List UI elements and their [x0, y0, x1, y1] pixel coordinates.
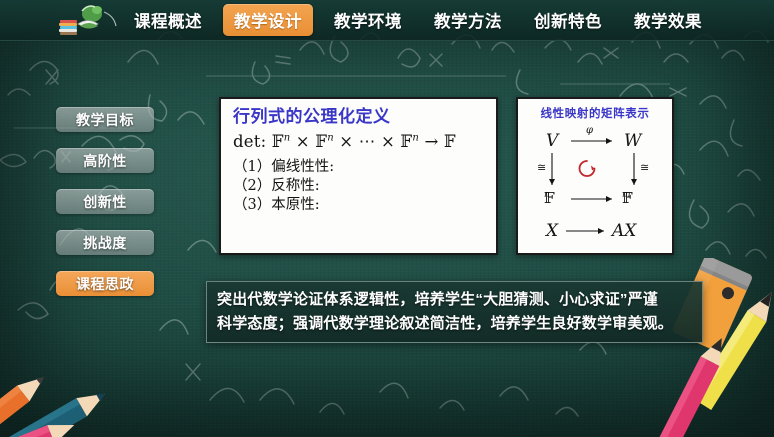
commutative-diagram-panel: 线性映射的矩阵表示: [516, 97, 674, 255]
sidebar-menu: 教学目标 高阶性 创新性 挑战度 课程思政: [56, 107, 154, 296]
books-plant-icon: [52, 2, 118, 40]
diagram-node-Fn: 𝔽n: [544, 189, 550, 207]
diagram-node-V: V: [546, 131, 558, 151]
sidebar-item-3[interactable]: 挑战度: [56, 230, 154, 255]
diagram-node-W: W: [624, 131, 641, 151]
axiom-item-1: （2）反称性:: [233, 177, 484, 196]
diagram-node-Fm: 𝔽m: [622, 189, 631, 207]
diagram-node-X: X: [546, 221, 558, 241]
diagram-label-iso-left: ≅: [537, 161, 546, 174]
diagram-title: 线性映射的矩阵表示: [524, 105, 666, 121]
top-navigation-bar: 课程概述 教学设计 教学环境 教学方法 创新特色 教学效果: [0, 0, 774, 41]
formula-field-3: 𝔽: [400, 132, 412, 151]
nav-item-list: 课程概述 教学设计 教学环境 教学方法 创新特色 教学效果: [118, 4, 718, 36]
formula-arrow: →: [424, 132, 438, 151]
nav-item-1[interactable]: 教学设计: [223, 4, 313, 36]
axiom-list: （1）偏线性性: （2）反称性: （3）本原性:: [233, 158, 484, 215]
formula-dots: ⋯: [359, 132, 376, 151]
diagram-node-AX: AX: [612, 221, 636, 241]
nav-item-5[interactable]: 教学效果: [623, 4, 713, 36]
definition-title: 行列式的公理化定义: [233, 108, 484, 127]
determinant-formula: det: 𝔽n × 𝔽n × ⋯ × 𝔽n → 𝔽: [233, 132, 484, 151]
formula-exp-2: n: [327, 132, 334, 143]
axiom-item-0: （1）偏线性性:: [233, 158, 484, 177]
formula-times-2: ×: [339, 132, 353, 151]
nav-item-4[interactable]: 创新特色: [523, 4, 613, 36]
definition-panel: 行列式的公理化定义 det: 𝔽n × 𝔽n × ⋯ × 𝔽n → 𝔽 （1）偏…: [219, 97, 498, 255]
nav-item-3[interactable]: 教学方法: [423, 4, 513, 36]
diagram-label-phi: φ: [586, 125, 593, 136]
axiom-item-2: （3）本原性:: [233, 196, 484, 215]
formula-prefix: det: [233, 132, 261, 151]
formula-codomain: 𝔽: [444, 132, 456, 151]
formula-colon: :: [261, 132, 267, 151]
diagram-label-iso-right: ≅: [640, 161, 649, 174]
formula-exp-1: n: [284, 132, 291, 143]
nav-item-0[interactable]: 课程概述: [123, 4, 213, 36]
summary-line-2: 科学态度；强调代数学理论叙述简洁性，培养学生良好数学审美观。: [217, 312, 692, 336]
sidebar-item-2[interactable]: 创新性: [56, 189, 154, 214]
sidebar-item-1[interactable]: 高阶性: [56, 148, 154, 173]
formula-times-3: ×: [381, 132, 395, 151]
formula-field-2: 𝔽: [315, 132, 327, 151]
slide-root: 课程概述 教学设计 教学环境 教学方法 创新特色 教学效果 教学目标 高阶性 创…: [0, 0, 774, 437]
sidebar-item-0[interactable]: 教学目标: [56, 107, 154, 132]
formula-exp-3: n: [412, 132, 419, 143]
nav-item-2[interactable]: 教学环境: [323, 4, 413, 36]
sidebar-item-4[interactable]: 课程思政: [56, 271, 154, 296]
summary-banner: 突出代数学论证体系逻辑性，培养学生“大胆猜测、小心求证”严谨 科学态度；强调代数…: [206, 281, 703, 343]
formula-field-1: 𝔽: [272, 132, 284, 151]
summary-line-1: 突出代数学论证体系逻辑性，培养学生“大胆猜测、小心求证”严谨: [217, 288, 692, 312]
formula-times-1: ×: [296, 132, 310, 151]
commutative-diagram: V W φ ≅ ≅ 𝔽n 𝔽m X AX: [524, 123, 670, 251]
